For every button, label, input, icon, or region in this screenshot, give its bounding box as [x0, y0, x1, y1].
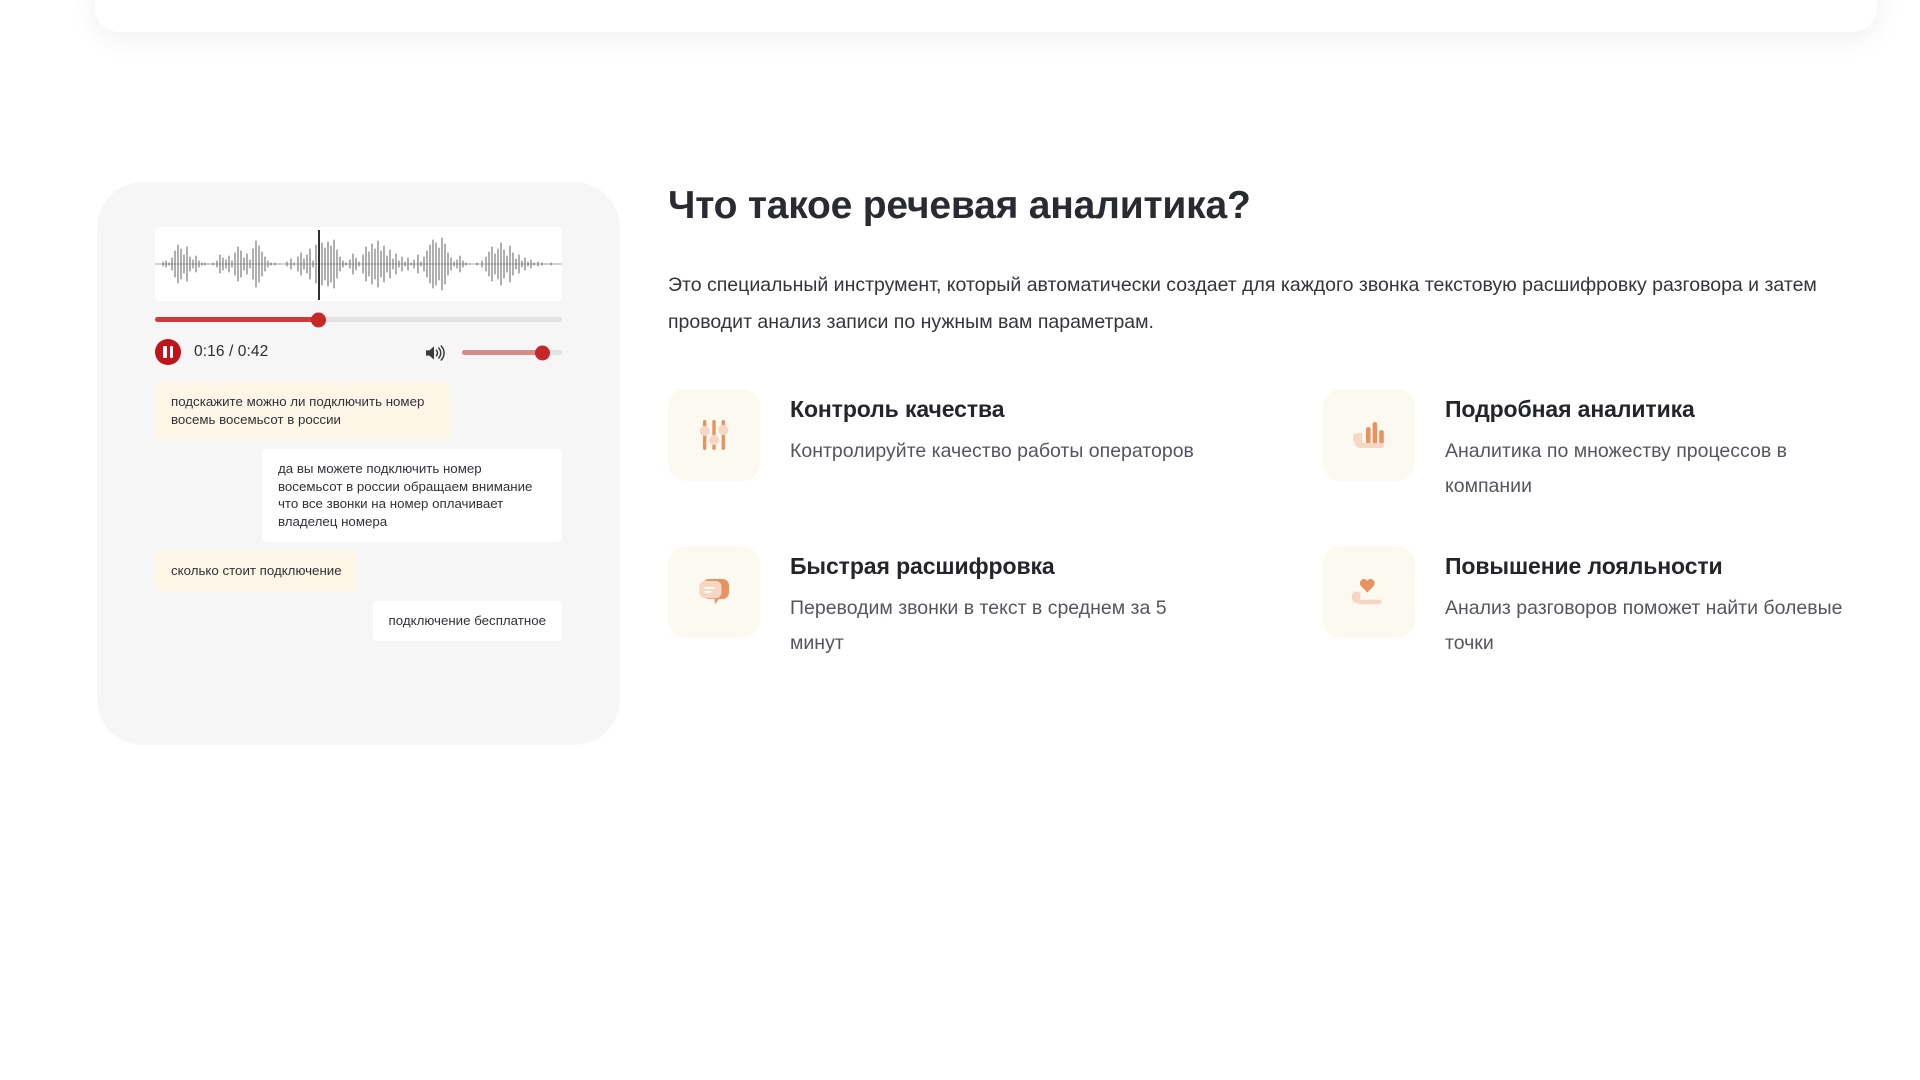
feature-title: Быстрая расшифровка [790, 552, 1210, 580]
page-title: Что такое речевая аналитика? [668, 182, 1858, 230]
waveform-graphic [155, 227, 562, 301]
volume-slider[interactable] [462, 350, 562, 355]
audio-waveform[interactable] [155, 227, 562, 301]
transcript-bubble: подключение бесплатное [373, 601, 562, 642]
feature-card-loyalty: Повышение лояльности Анализ разговоров п… [1323, 546, 1858, 661]
feature-title: Подробная аналитика [1445, 395, 1858, 423]
seek-bar[interactable] [155, 317, 562, 322]
feature-icon-tile [668, 546, 760, 638]
feature-card-detailed-analytics: Подробная аналитика Аналитика по множест… [1323, 389, 1858, 504]
volume-slider-handle[interactable] [535, 345, 550, 360]
content-column: Что такое речевая аналитика? Это специал… [668, 182, 1858, 661]
hand-chart-icon [1347, 413, 1391, 457]
pause-icon-bar-left [163, 346, 167, 358]
pause-button[interactable] [155, 339, 181, 365]
volume-slider-fill [462, 350, 542, 355]
time-display: 0:16 / 0:42 [194, 343, 268, 361]
transcript-row: подключение бесплатное [155, 601, 562, 642]
volume-icon[interactable] [425, 344, 445, 362]
feature-text: Повышение лояльности Анализ разговоров п… [1445, 546, 1858, 661]
hand-heart-icon [1347, 570, 1391, 614]
call-player-panel: 0:16 / 0:42 подскажите можно ли подключи… [97, 182, 620, 745]
intro-paragraph: Это специальный инструмент, который авто… [668, 267, 1838, 341]
playhead-marker [318, 230, 320, 300]
chat-bubbles-icon [692, 570, 736, 614]
feature-icon-tile [1323, 546, 1415, 638]
feature-card-fast-transcription: Быстрая расшифровка Переводим звонки в т… [668, 546, 1323, 661]
top-section-card [95, 0, 1877, 32]
feature-description: Контролируйте качество работы операторов [790, 434, 1194, 469]
feature-card-quality-control: Контроль качества Контролируйте качество… [668, 389, 1323, 504]
transcript-row: сколько стоит подключение [155, 551, 562, 592]
transcript-bubble: да вы можете подключить номер восемьсот … [262, 449, 562, 542]
transcript-bubble: сколько стоит подключение [155, 551, 358, 592]
feature-grid: Контроль качества Контролируйте качество… [668, 389, 1858, 661]
sliders-icon [692, 413, 736, 457]
feature-title: Повышение лояльности [1445, 552, 1858, 580]
call-transcript: подскажите можно ли подключить номер вос… [155, 382, 562, 650]
feature-text: Контроль качества Контролируйте качество… [790, 389, 1194, 469]
seek-bar-fill [155, 317, 318, 322]
page-root: 0:16 / 0:42 подскажите можно ли подключи… [0, 0, 1920, 1080]
feature-icon-tile [1323, 389, 1415, 481]
feature-description: Анализ разговоров поможет найти болевые … [1445, 591, 1858, 661]
feature-description: Переводим звонки в текст в среднем за 5 … [790, 591, 1210, 661]
transcript-row: подскажите можно ли подключить номер вос… [155, 382, 562, 440]
seek-bar-handle[interactable] [311, 312, 326, 327]
player-controls: 0:16 / 0:42 [155, 339, 562, 367]
feature-icon-tile [668, 389, 760, 481]
feature-text: Подробная аналитика Аналитика по множест… [1445, 389, 1858, 504]
audio-player: 0:16 / 0:42 [155, 227, 562, 367]
transcript-bubble: подскажите можно ли подключить номер вос… [155, 382, 450, 440]
feature-description: Аналитика по множеству процессов в компа… [1445, 434, 1858, 504]
transcript-row: да вы можете подключить номер восемьсот … [155, 449, 562, 542]
pause-icon-bar-right [170, 346, 174, 358]
feature-title: Контроль качества [790, 395, 1194, 423]
feature-text: Быстрая расшифровка Переводим звонки в т… [790, 546, 1210, 661]
